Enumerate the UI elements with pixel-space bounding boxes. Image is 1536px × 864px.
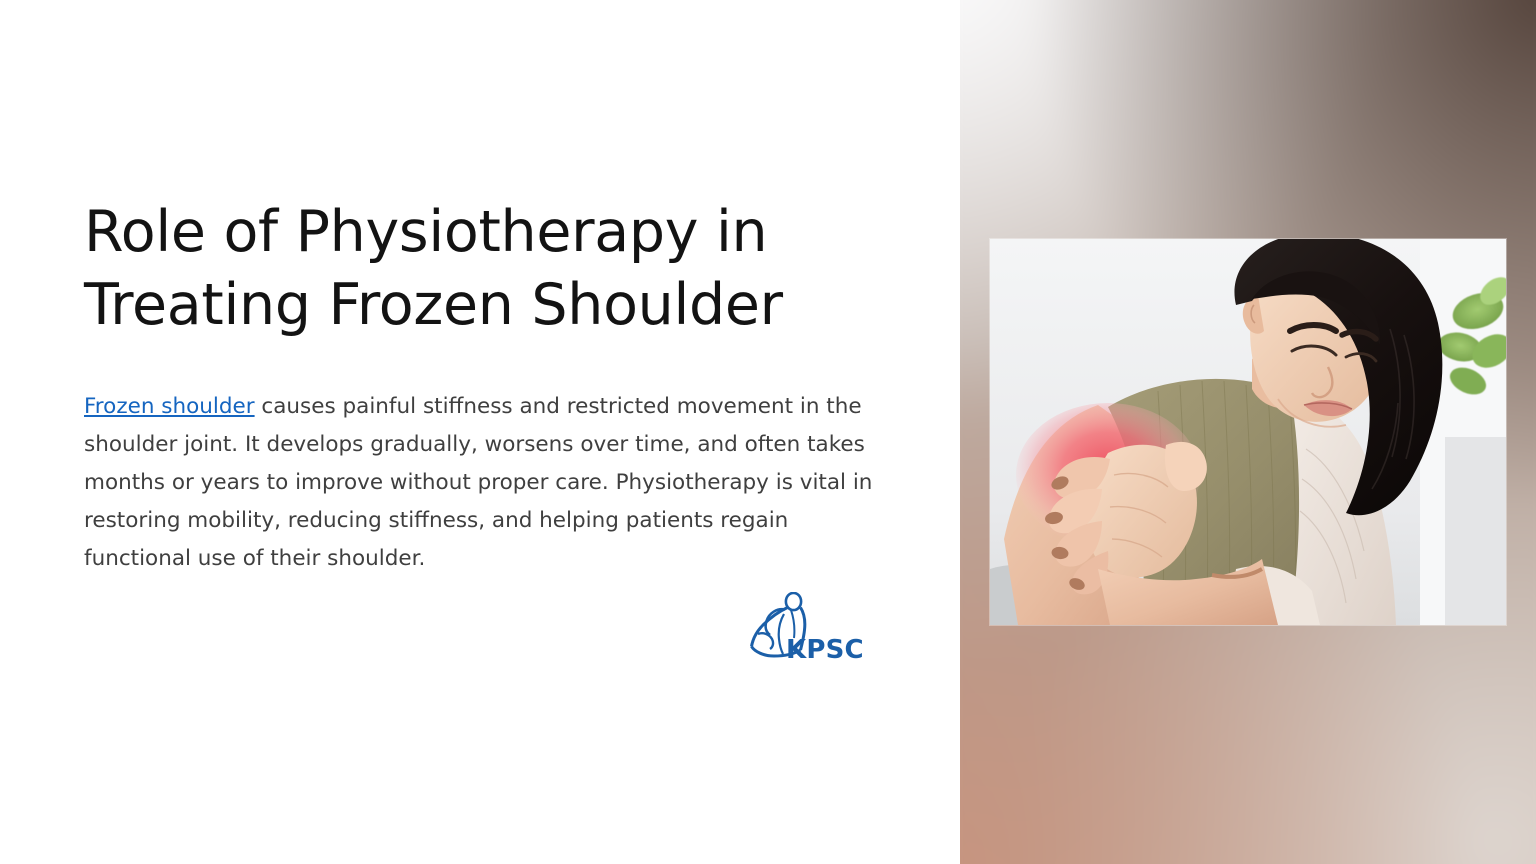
right-image-panel: [960, 0, 1536, 864]
kpsc-wordmark: KPSC: [786, 635, 864, 665]
slide-root: Role of Physiotherapy in Treating Frozen…: [0, 0, 1536, 864]
page-title: Role of Physiotherapy in Treating Frozen…: [84, 196, 874, 342]
shoulder-pain-photo: [990, 239, 1506, 625]
left-content-panel: Role of Physiotherapy in Treating Frozen…: [0, 0, 960, 864]
frozen-shoulder-link[interactable]: Frozen shoulder: [84, 394, 255, 419]
kpsc-logo: KPSC: [744, 592, 868, 668]
body-paragraph-rest: causes painful stiffness and restricted …: [84, 394, 872, 571]
shoulder-pain-illustration: [990, 239, 1506, 625]
body-paragraph: Frozen shoulder causes painful stiffness…: [84, 388, 874, 578]
